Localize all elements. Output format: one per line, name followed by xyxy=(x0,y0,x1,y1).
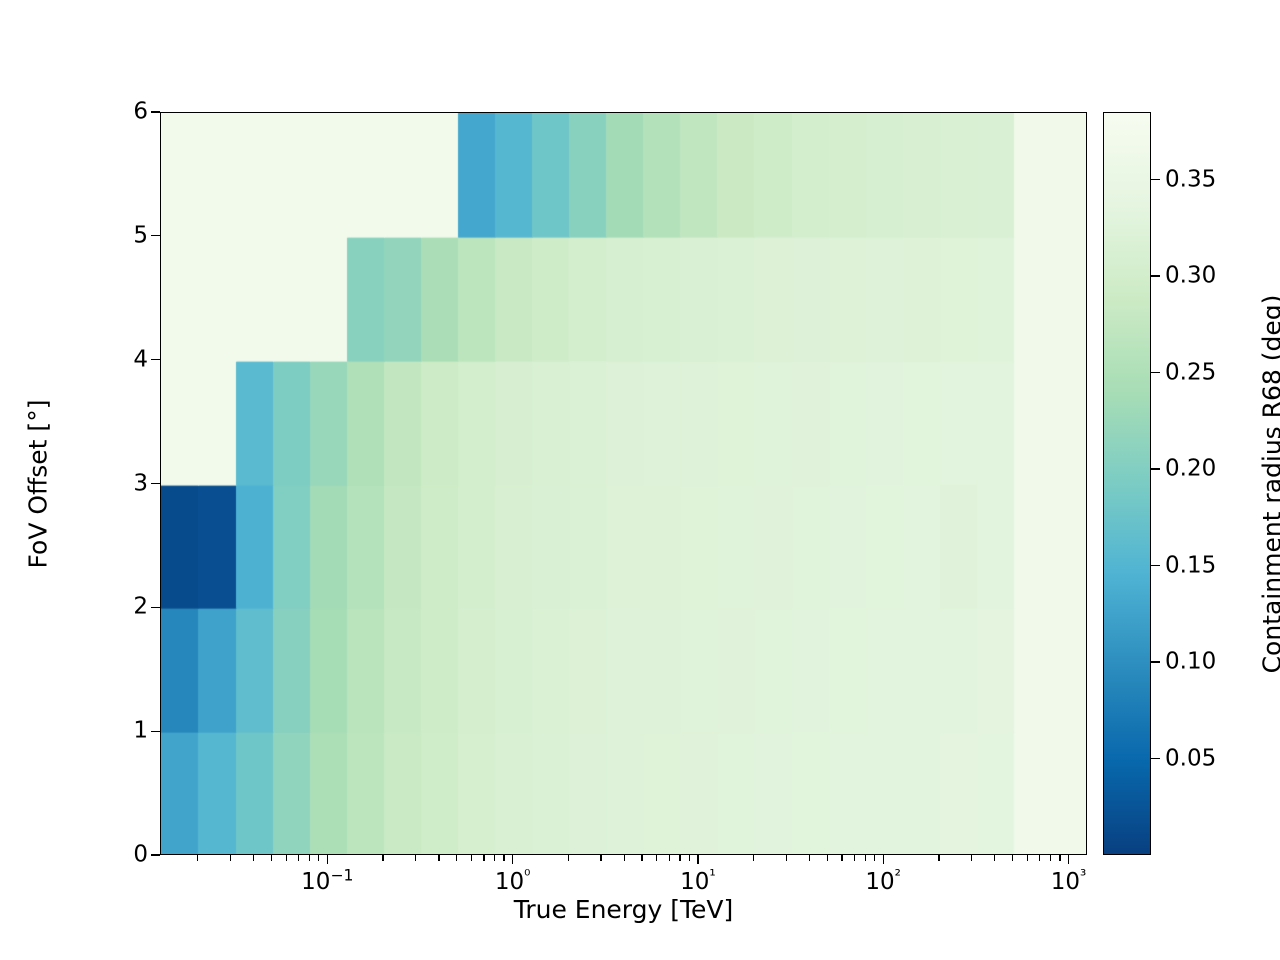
x-tick-major xyxy=(697,855,698,864)
x-tick-minor xyxy=(938,855,939,861)
x-tick-minor xyxy=(994,855,995,861)
x-tick-minor xyxy=(641,855,642,861)
x-tick-minor xyxy=(309,855,310,861)
y-tick-label: 2 xyxy=(104,596,148,619)
x-tick-minor xyxy=(415,855,416,861)
colorbar-tick-label: 0.10 xyxy=(1165,651,1216,674)
y-tick-major xyxy=(151,607,160,608)
x-tick-minor xyxy=(689,855,690,861)
x-tick-minor xyxy=(253,855,254,861)
x-tick-label: 10¹ xyxy=(680,871,716,894)
x-tick-minor xyxy=(471,855,472,861)
heatmap-plot-area xyxy=(160,112,1087,855)
colorbar-tick-label: 0.05 xyxy=(1165,747,1216,770)
x-tick-minor xyxy=(679,855,680,861)
x-tick-minor xyxy=(438,855,439,861)
x-tick-label: 10⁰ xyxy=(495,871,531,894)
x-tick-minor xyxy=(456,855,457,861)
colorbar-tick-label: 0.30 xyxy=(1165,265,1216,288)
heatmap-canvas xyxy=(161,113,1087,855)
colorbar-tick-label: 0.25 xyxy=(1165,361,1216,384)
x-tick-minor xyxy=(271,855,272,861)
x-tick-minor xyxy=(971,855,972,861)
x-tick-major xyxy=(327,855,328,864)
x-tick-minor xyxy=(318,855,319,861)
x-tick-label: 10² xyxy=(865,871,901,894)
x-tick-minor xyxy=(286,855,287,861)
x-tick-minor xyxy=(494,855,495,861)
y-tick-major xyxy=(151,483,160,484)
x-tick-minor xyxy=(298,855,299,861)
x-tick-major xyxy=(1068,855,1069,864)
y-tick-label: 4 xyxy=(104,348,148,371)
colorbar-tick xyxy=(1151,758,1160,759)
x-tick-minor xyxy=(503,855,504,861)
x-tick-label: 10³ xyxy=(1051,871,1087,894)
x-tick-minor xyxy=(230,855,231,861)
x-tick-major xyxy=(512,855,513,864)
y-tick-label: 3 xyxy=(104,472,148,495)
x-tick-minor xyxy=(809,855,810,861)
y-tick-major xyxy=(151,854,160,855)
colorbar xyxy=(1103,112,1151,855)
x-tick-major xyxy=(883,855,884,864)
colorbar-tick xyxy=(1151,565,1160,566)
y-tick-label: 5 xyxy=(104,224,148,247)
x-tick-minor xyxy=(1012,855,1013,861)
y-tick-label: 6 xyxy=(104,101,148,124)
colorbar-tick xyxy=(1151,275,1160,276)
x-tick-minor xyxy=(1039,855,1040,861)
x-tick-minor xyxy=(874,855,875,861)
x-tick-minor xyxy=(865,855,866,861)
x-tick-minor xyxy=(1059,855,1060,861)
y-tick-major xyxy=(151,111,160,112)
colorbar-tick xyxy=(1151,661,1160,662)
colorbar-tick-label: 0.15 xyxy=(1165,554,1216,577)
colorbar-gradient xyxy=(1104,113,1150,854)
x-tick-minor xyxy=(1050,855,1051,861)
y-axis-title: FoV Offset [°] xyxy=(24,399,53,568)
x-tick-minor xyxy=(854,855,855,861)
x-tick-minor xyxy=(656,855,657,861)
x-tick-minor xyxy=(382,855,383,861)
x-tick-minor xyxy=(197,855,198,861)
y-tick-major xyxy=(151,235,160,236)
y-tick-label: 1 xyxy=(104,720,148,743)
colorbar-tick-label: 0.35 xyxy=(1165,168,1216,191)
colorbar-tick-label: 0.20 xyxy=(1165,458,1216,481)
x-tick-label: 10−1 xyxy=(301,871,353,894)
x-tick-minor xyxy=(483,855,484,861)
x-tick-minor xyxy=(600,855,601,861)
colorbar-tick xyxy=(1151,468,1160,469)
colorbar-title: Containment radius R68 (deg) xyxy=(1258,294,1280,673)
x-tick-minor xyxy=(568,855,569,861)
x-tick-minor xyxy=(753,855,754,861)
y-tick-major xyxy=(151,359,160,360)
x-tick-minor xyxy=(786,855,787,861)
x-tick-minor xyxy=(1027,855,1028,861)
x-tick-minor xyxy=(669,855,670,861)
x-axis-title: True Energy [TeV] xyxy=(160,895,1087,924)
x-tick-minor xyxy=(827,855,828,861)
y-tick-major xyxy=(151,731,160,732)
colorbar-tick xyxy=(1151,179,1160,180)
x-tick-minor xyxy=(624,855,625,861)
y-tick-label: 0 xyxy=(104,844,148,867)
colorbar-tick xyxy=(1151,372,1160,373)
x-tick-minor xyxy=(841,855,842,861)
